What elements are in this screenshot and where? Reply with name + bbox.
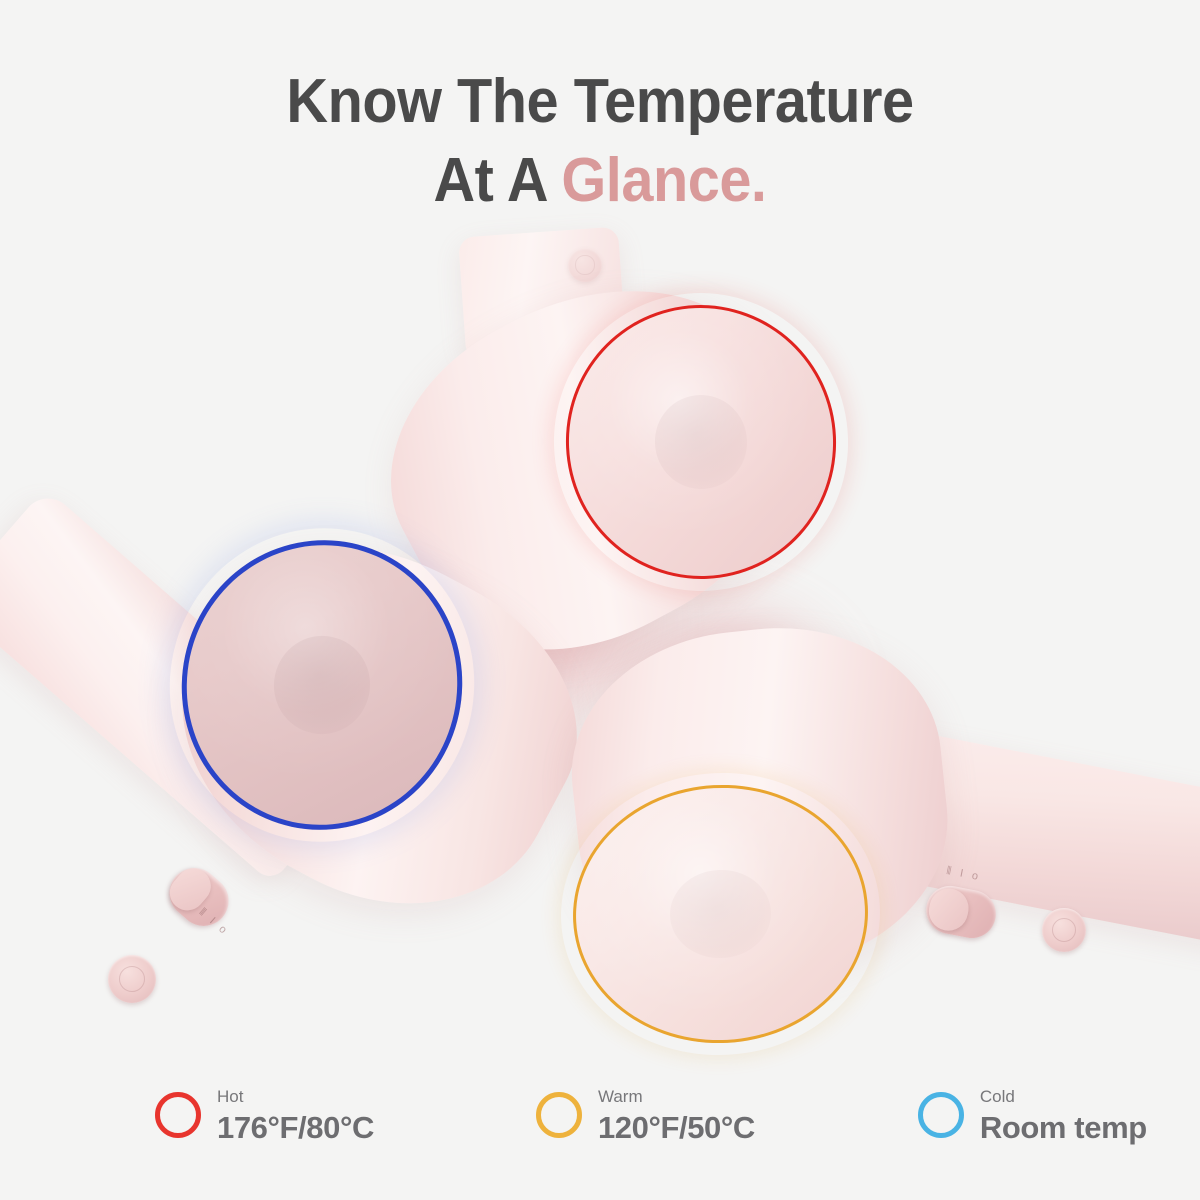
legend-label-cold: Cold	[980, 1088, 1147, 1105]
legend-item-hot: Hot 176°F/80°C	[155, 1088, 374, 1143]
hot-ring-icon	[155, 1092, 201, 1138]
legend-text-hot: Hot 176°F/80°C	[217, 1088, 374, 1143]
warm-dryer-cool-button[interactable]	[1042, 908, 1086, 952]
legend-text-warm: Warm 120°F/50°C	[598, 1088, 755, 1143]
cold-dryer-cool-button[interactable]	[108, 955, 156, 1003]
product-scene: ⦀ I o ⦀ I o	[0, 0, 1200, 1200]
product-feature-graphic: Know The Temperature At A Glance.	[0, 0, 1200, 1200]
legend-value-warm: 120°F/50°C	[598, 1112, 755, 1143]
legend-value-hot: 176°F/80°C	[217, 1112, 374, 1143]
legend-text-cold: Cold Room temp	[980, 1088, 1147, 1143]
legend-label-hot: Hot	[217, 1088, 374, 1105]
warm-ring-icon-halo	[537, 1093, 581, 1137]
temperature-legend: Hot 176°F/80°C Warm 120°F/50°C Cold Room…	[0, 1070, 1200, 1160]
legend-item-warm: Warm 120°F/50°C	[536, 1088, 755, 1143]
hot-ring-icon-halo	[156, 1093, 200, 1137]
legend-item-cold: Cold Room temp	[918, 1088, 1147, 1143]
legend-value-cold: Room temp	[980, 1112, 1147, 1143]
cold-ring-icon-halo	[919, 1093, 963, 1137]
hot-dryer-button[interactable]	[568, 248, 602, 282]
legend-label-warm: Warm	[598, 1088, 755, 1105]
warm-ring-icon	[536, 1092, 582, 1138]
cold-ring-icon	[918, 1092, 964, 1138]
